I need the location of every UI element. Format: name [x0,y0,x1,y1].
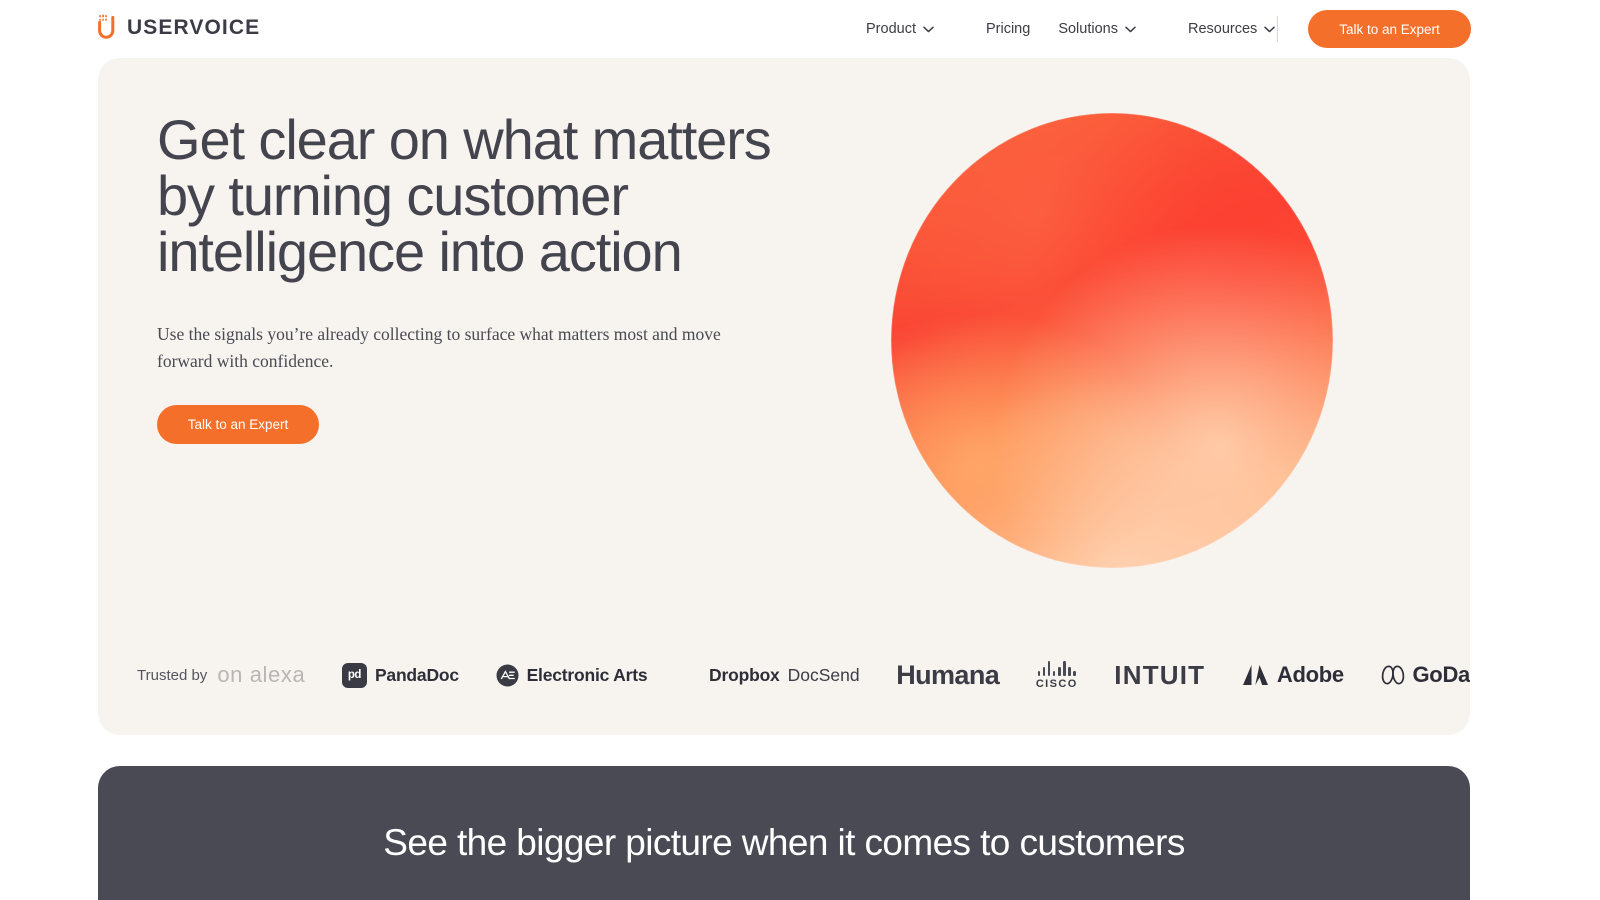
hero-headline: Get clear on what matters by turning cus… [157,112,817,280]
godaddy-heart-icon [1381,663,1405,687]
hero-gradient-orb-fill [891,113,1333,568]
bigger-picture-section: See the bigger picture when it comes to … [98,766,1470,900]
logo-humana-text: Humana [896,660,999,691]
logo-alexa-text: on alexa [217,662,305,688]
chevron-down-icon [923,26,934,33]
nav-talk-to-expert-button[interactable]: Talk to an Expert [1308,10,1471,48]
ea-circle-icon [496,664,519,687]
trusted-by-label: Trusted by [137,667,207,684]
pandadoc-badge-icon: pd [342,663,367,688]
nav-links: Product Pricing Solutions Resources [866,0,1299,58]
brand-name: USERVOICE [127,17,260,38]
nav-item-resources[interactable]: Resources [1188,21,1299,37]
nav-item-product[interactable]: Product [866,21,958,37]
nav-divider [1277,16,1278,42]
trusted-by-logo-strip: Trusted by on alexa pd PandaDoc Electron… [137,653,1470,697]
landing-page: USERVOICE Product Pricing Solutions Reso… [0,0,1600,900]
uservoice-logo-icon [96,14,118,40]
logo-intuit: INTUIT [1114,653,1205,697]
logo-pandadoc-text: PandaDoc [375,665,459,686]
nav-item-solutions[interactable]: Solutions [1058,21,1160,37]
logo-electronic-arts: Electronic Arts [496,653,648,697]
logo-row: on alexa pd PandaDoc Electronic Arts [231,653,1470,697]
chevron-down-icon [1264,26,1275,33]
hero-section: Get clear on what matters by turning cus… [98,58,1470,735]
top-navigation-bar: USERVOICE Product Pricing Solutions Reso… [0,0,1600,58]
adobe-a-icon [1242,663,1269,687]
hero-talk-to-expert-button[interactable]: Talk to an Expert [157,405,319,444]
logo-docsend-text: DocSend [788,665,860,686]
logo-godaddy: GoDa [1381,653,1470,697]
logo-dropbox-docsend: Dropbox DocSend [684,653,860,697]
dropbox-icon [684,667,701,684]
logo-pandadoc: pd PandaDoc [342,653,459,697]
hero-subheadline: Use the signals you’re already collectin… [157,321,757,375]
brand-logo-link[interactable]: USERVOICE [96,14,260,40]
logo-electronic-arts-text: Electronic Arts [527,665,648,686]
logo-adobe: Adobe [1242,653,1344,697]
hero-copy: Get clear on what matters by turning cus… [157,112,837,444]
logo-intuit-text: INTUIT [1114,660,1205,691]
logo-godaddy-text: GoDa [1413,662,1470,688]
chevron-down-icon [1125,26,1136,33]
logo-cisco: CISCO [1036,653,1078,697]
logo-dropbox-text: Dropbox [709,665,780,686]
logo-adobe-text: Adobe [1277,662,1344,688]
nav-item-pricing-label: Pricing [986,21,1030,37]
hero-gradient-orb [891,113,1333,568]
nav-item-product-label: Product [866,21,916,37]
cisco-bars-icon [1038,661,1076,676]
nav-item-solutions-label: Solutions [1058,21,1118,37]
logo-humana: Humana [896,653,999,697]
logo-cisco-text: CISCO [1036,678,1078,690]
nav-item-pricing[interactable]: Pricing [986,21,1030,37]
logo-alexa: on alexa [231,653,305,697]
bigger-picture-heading: See the bigger picture when it comes to … [98,823,1470,864]
nav-item-resources-label: Resources [1188,21,1257,37]
cisco-mark: CISCO [1036,661,1078,690]
